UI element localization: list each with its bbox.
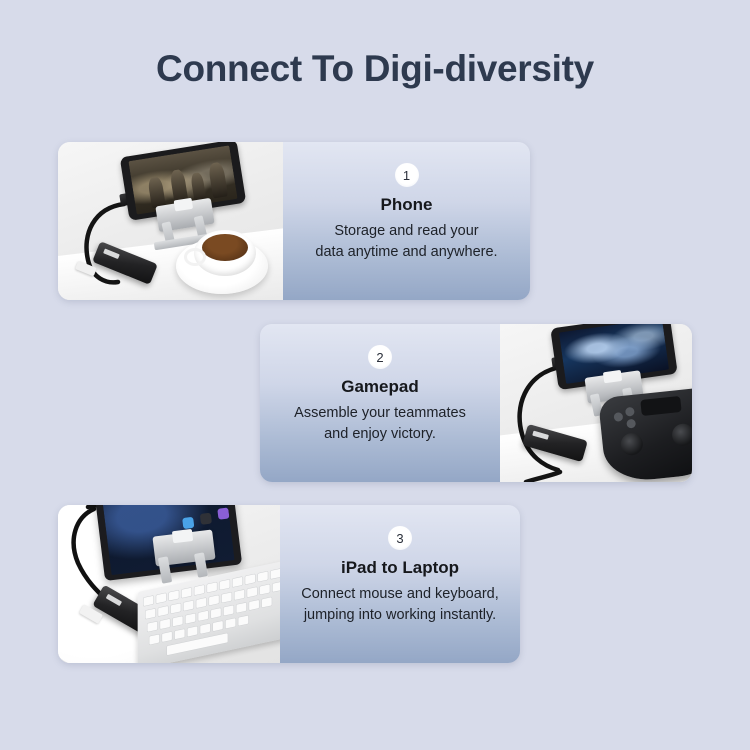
card-image-gamepad xyxy=(500,324,692,482)
desc-line: data anytime and anywhere. xyxy=(315,242,497,263)
scene-phone-gamepad xyxy=(500,324,692,482)
feature-card-ipad-laptop: 3 iPad to Laptop Connect mouse and keybo… xyxy=(58,505,520,663)
card-text-panel-ipad: 3 iPad to Laptop Connect mouse and keybo… xyxy=(280,505,520,663)
desc-line: jumping into working instantly. xyxy=(301,605,499,626)
step-badge-1: 1 xyxy=(395,163,419,187)
step-badge-3: 3 xyxy=(388,526,412,550)
desc-line: Assemble your teammates xyxy=(294,403,466,424)
cup-handle xyxy=(184,248,206,266)
card-title-phone: Phone xyxy=(381,195,433,215)
card-description-phone: Storage and read your data anytime and a… xyxy=(303,221,509,262)
scene-phone-coffee xyxy=(58,142,283,300)
game-controller xyxy=(598,386,692,482)
card-image-phone xyxy=(58,142,283,300)
card-description-ipad: Connect mouse and keyboard, jumping into… xyxy=(289,584,511,625)
promo-page: Connect To Digi-diversity xyxy=(0,0,750,750)
page-title: Connect To Digi-diversity xyxy=(0,48,750,90)
feature-card-gamepad: 2 Gamepad Assemble your teammates and en… xyxy=(260,324,692,482)
card-text-panel-phone: 1 Phone Storage and read your data anyti… xyxy=(283,142,530,300)
step-badge-2: 2 xyxy=(368,345,392,369)
desc-line: Connect mouse and keyboard, xyxy=(301,584,499,605)
card-text-panel-gamepad: 2 Gamepad Assemble your teammates and en… xyxy=(260,324,500,482)
desc-line: Storage and read your xyxy=(315,221,497,242)
feature-card-phone: 1 Phone Storage and read your data anyti… xyxy=(58,142,530,300)
coffee-liquid xyxy=(202,234,248,261)
card-description-gamepad: Assemble your teammates and enjoy victor… xyxy=(282,403,478,444)
scene-ipad-keyboard xyxy=(58,505,280,663)
card-image-ipad xyxy=(58,505,280,663)
card-title-ipad: iPad to Laptop xyxy=(341,558,459,578)
card-title-gamepad: Gamepad xyxy=(341,377,418,397)
desc-line: and enjoy victory. xyxy=(294,424,466,445)
